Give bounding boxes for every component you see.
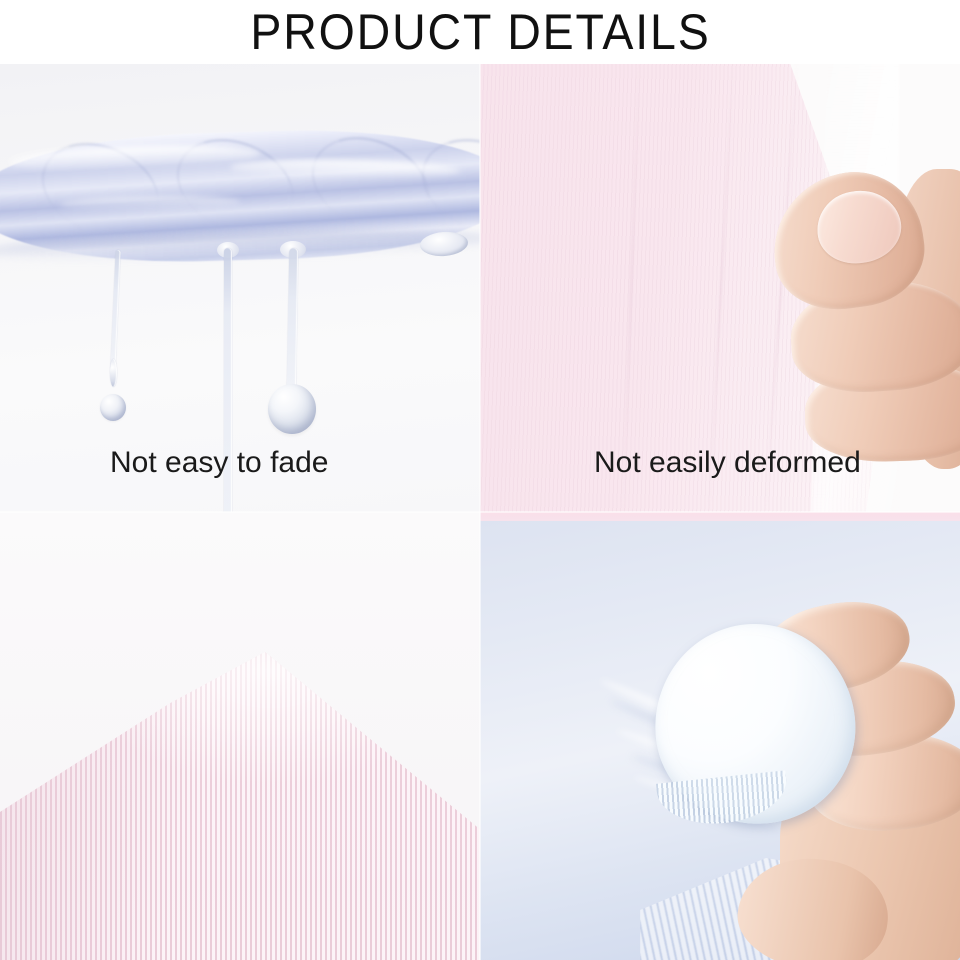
page-title: PRODUCT DETAILS — [250, 7, 710, 57]
water-drop-icon — [100, 394, 126, 421]
feature-grid: Not easy to fade Not easily deformed — [0, 64, 960, 960]
panel-not-easily-deformed: Not easily deformed — [480, 64, 960, 512]
product-details-infographic: PRODUCT DETAILS Not easy to fade — [0, 0, 960, 960]
panel-caption-fade: Not easy to fade — [110, 446, 328, 480]
panel-difficult-to-snag: Difficult to snag — [0, 512, 480, 960]
panel-difficult-to-pilling: Difficult to pilling — [480, 512, 960, 960]
pink-edge-strip — [480, 512, 960, 521]
panel-divider-horizontal — [0, 511, 960, 513]
panel-caption-deformed: Not easily deformed — [594, 446, 861, 480]
water-stream-bead — [110, 359, 117, 387]
water-drop-icon — [268, 384, 316, 434]
header-banner: PRODUCT DETAILS — [0, 0, 960, 64]
panel-not-easy-to-fade: Not easy to fade — [0, 64, 480, 512]
